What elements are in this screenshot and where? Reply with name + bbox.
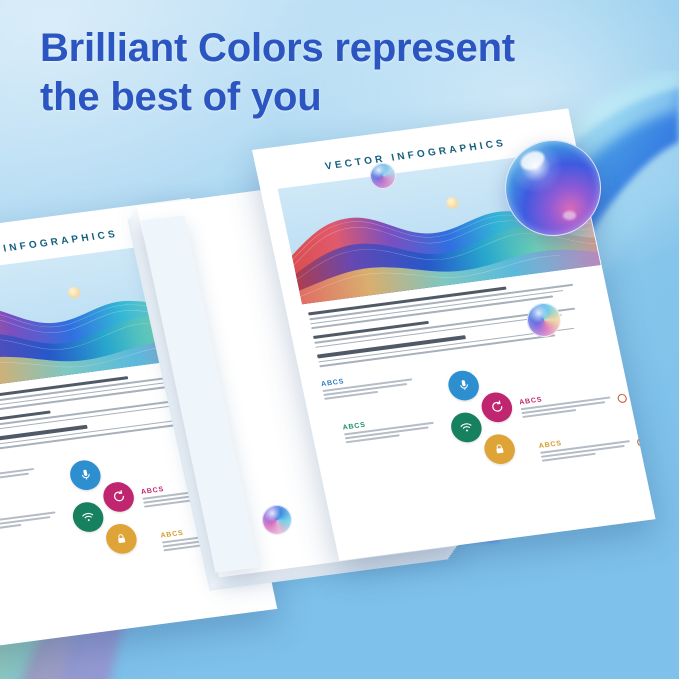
callout-left-1: ABCS (0, 458, 42, 489)
wifi-icon[interactable] (70, 500, 106, 533)
callout-right-4: ABCS (538, 430, 637, 461)
end-marker-icon (617, 393, 628, 403)
callout-right-2: ABCS (342, 412, 441, 443)
callout-left-2: ABCS (0, 502, 63, 533)
document-right-callout-cluster: ABCS ABCS ABCS ABCS (320, 342, 630, 525)
wifi-icon[interactable] (448, 411, 484, 444)
soap-bubble-tiny (262, 505, 292, 535)
headline: Brilliant Colors represent the best of y… (40, 24, 600, 122)
callout-right-3: ABCS (519, 387, 618, 418)
soap-bubble-small (370, 163, 396, 189)
callout-right-1: ABCS (321, 368, 420, 399)
lock-icon[interactable] (103, 522, 139, 555)
microphone-icon[interactable] (446, 369, 482, 402)
refresh-icon[interactable] (479, 390, 515, 423)
microphone-icon[interactable] (67, 458, 103, 491)
soap-bubble-large (505, 140, 601, 236)
lock-icon[interactable] (482, 432, 518, 465)
refresh-icon[interactable] (101, 480, 137, 513)
marketing-image-scene: Brilliant Colors represent the best of y… (0, 0, 679, 679)
soap-bubble-medium (527, 303, 561, 337)
